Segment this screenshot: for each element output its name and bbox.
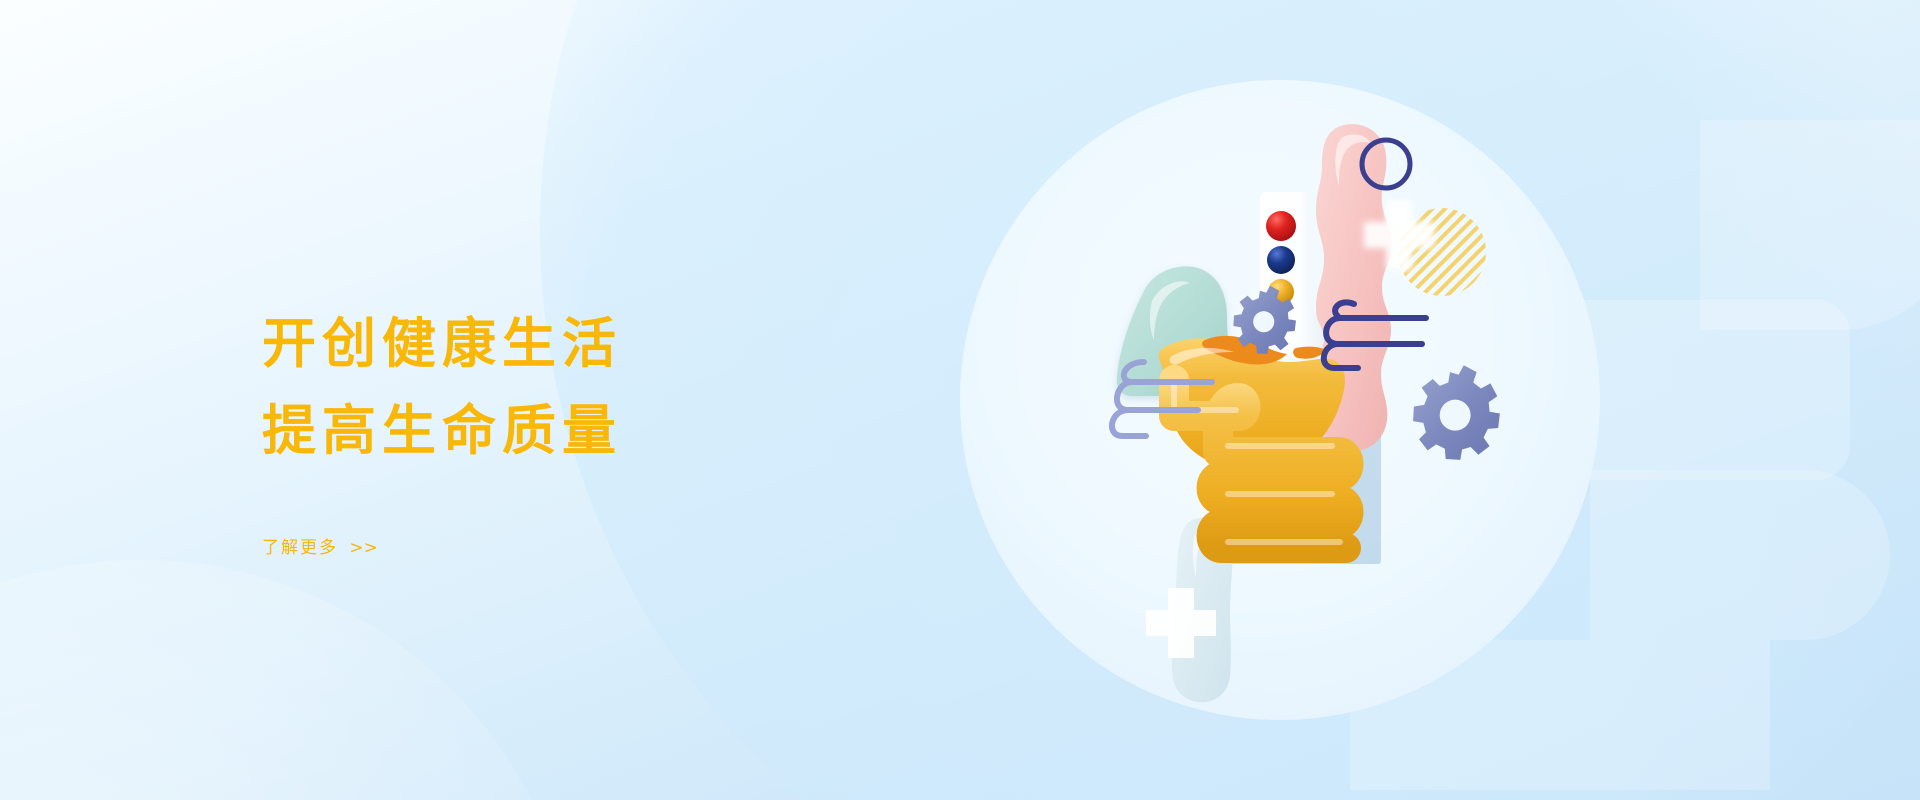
dot-red (1266, 211, 1296, 241)
learn-more-label: 了解更多 (262, 538, 338, 558)
background-watermark-4 (1700, 120, 1920, 330)
digestive-system-illustration (960, 80, 1600, 720)
background-blob-left (0, 560, 580, 800)
learn-more-link[interactable]: 了解更多 >> (262, 533, 378, 558)
headline-line-2: 提高生命质量 (262, 387, 902, 474)
illustration-container (960, 80, 1600, 720)
hero-copy-block: 开创健康生活 提高生命质量 了解更多 >> (262, 300, 902, 558)
hero-banner: 开创健康生活 提高生命质量 了解更多 >> (0, 0, 1920, 800)
headline-line-1: 开创健康生活 (262, 300, 902, 387)
gear-large-icon (1413, 365, 1500, 460)
background-watermark-2 (1590, 470, 1890, 640)
chevron-right-icon: >> (349, 538, 378, 558)
dot-navy (1267, 246, 1295, 274)
